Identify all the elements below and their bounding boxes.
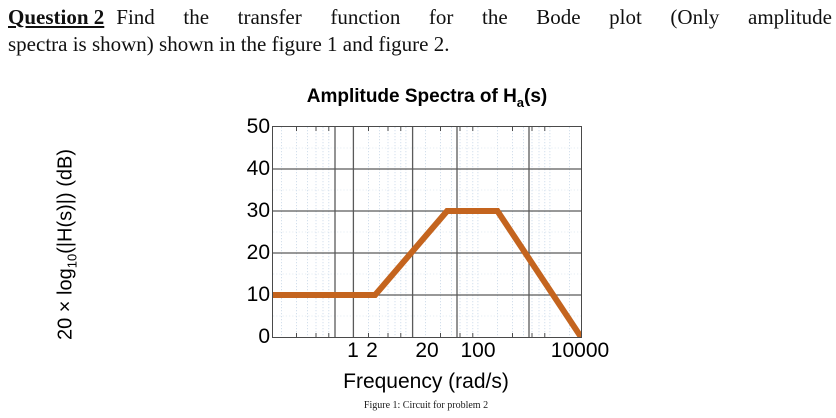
y-axis-label: 20 × log10(|H(s)|) (dB): [55, 125, 80, 365]
question-line-2-text: spectra is shown) shown in the figure 1 …: [8, 31, 832, 57]
y-tick-label-10: 10: [210, 284, 270, 305]
question-text-block: Question 2 Find the transfer function fo…: [8, 4, 832, 57]
chart-title-suffix: (s): [524, 86, 547, 107]
x-tick-label-20: 20: [415, 340, 438, 361]
question-label: Question 2: [8, 4, 104, 30]
chart-title-subscript: a: [517, 95, 524, 110]
x-tick-label-10000: 10000: [551, 340, 609, 361]
question-line-1: Question 2 Find the transfer function fo…: [8, 4, 832, 30]
x-tick-label-1: 1: [347, 340, 359, 361]
y-axis-label-prefix: 20 × log: [55, 268, 77, 340]
chart-title-prefix: Amplitude Spectra of H: [307, 86, 517, 107]
y-tick-label-50: 50: [210, 116, 270, 137]
figure-caption: Figure 1: Circuit for problem 2: [272, 400, 580, 411]
question-line-1-text: Find the transfer function for the Bode …: [116, 4, 832, 30]
y-tick-label-20: 20: [210, 242, 270, 263]
y-axis-label-subscript: 10: [65, 254, 80, 268]
plot-canvas: [273, 127, 581, 337]
chart-title: Amplitude Spectra of Ha(s): [272, 86, 582, 110]
x-tick-label-2: 2: [366, 340, 378, 361]
plot-area: [272, 126, 582, 338]
y-axis-label-suffix: (|H(s)|) (dB): [55, 149, 77, 254]
y-tick-label-0: 0: [210, 326, 270, 347]
x-tick-label-100: 100: [460, 340, 495, 361]
y-tick-label-30: 30: [210, 200, 270, 221]
x-axis-label: Frequency (rad/s): [272, 370, 580, 394]
bode-plot-figure: Amplitude Spectra of Ha(s) 20 × log10(|H…: [0, 82, 836, 418]
y-tick-label-40: 40: [210, 158, 270, 179]
